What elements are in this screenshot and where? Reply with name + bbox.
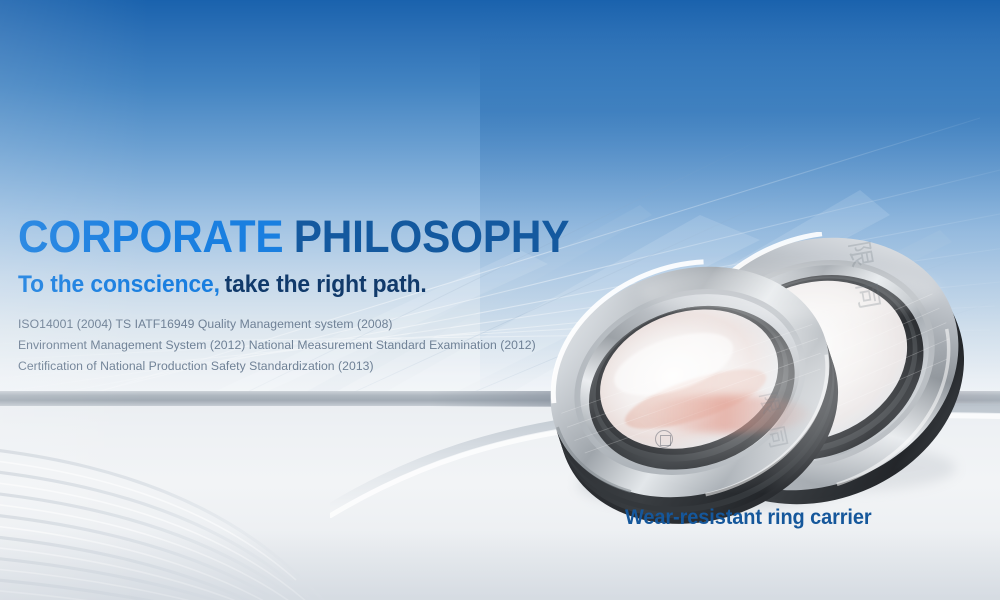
certification-line: Environment Management System (2012) Nat… xyxy=(18,335,618,356)
page-subtitle-part-one: To the conscience, xyxy=(18,271,220,298)
page-title: CORPORATEPHILOSOPHY xyxy=(18,212,582,262)
banner-copy-block: CORPORATEPHILOSOPHY To the conscience,ta… xyxy=(18,212,618,377)
certification-line: Certification of National Production Saf… xyxy=(18,356,618,377)
page-subtitle-part-two: take the right path. xyxy=(225,271,427,298)
corporate-philosophy-banner: 限 同 限 同 CORPORATEPHILOSOPHY To the consc… xyxy=(0,0,1000,600)
page-title-part-two: PHILOSOPHY xyxy=(294,211,569,262)
product-caption: Wear-resistant ring carrier xyxy=(625,506,872,530)
page-title-part-one: CORPORATE xyxy=(18,211,283,262)
certification-line: ISO14001 (2004) TS IATF16949 Quality Man… xyxy=(18,314,618,335)
certification-list: ISO14001 (2004) TS IATF16949 Quality Man… xyxy=(18,314,618,377)
page-subtitle: To the conscience,take the right path. xyxy=(18,271,588,299)
